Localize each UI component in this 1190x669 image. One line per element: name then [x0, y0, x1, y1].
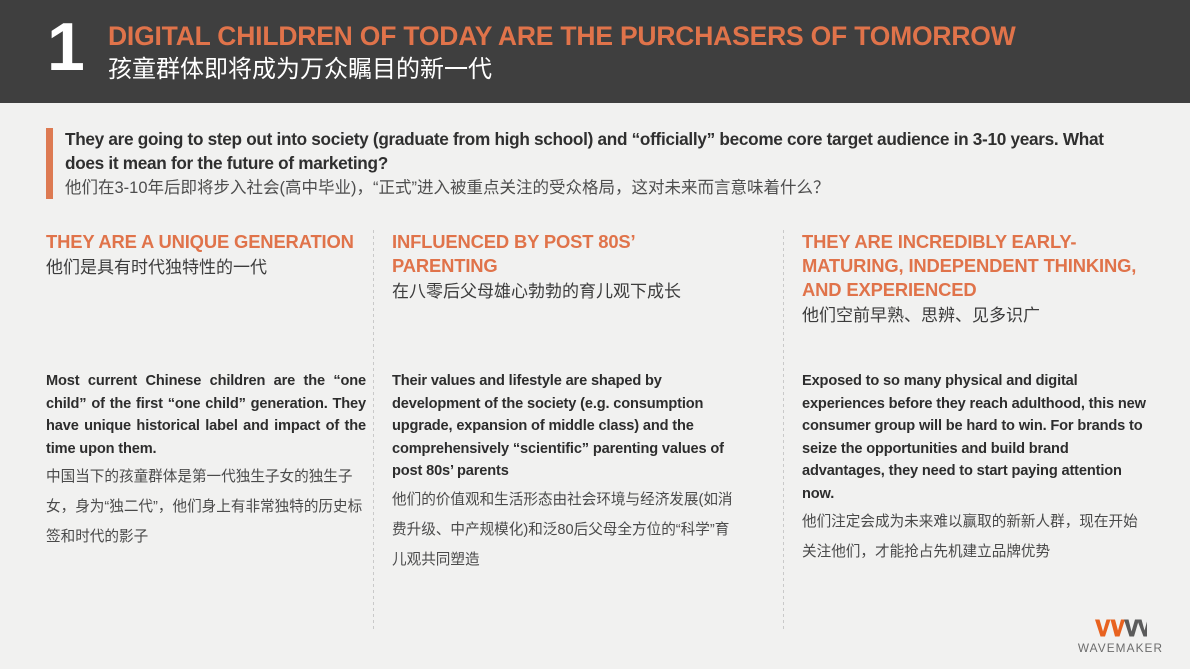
column-1-body-english: Most current Chinese children are the “o… — [46, 370, 366, 460]
column-3-body-english: Exposed to so many physical and digital … — [802, 370, 1147, 505]
column-1-heading-english: THEY ARE A UNIQUE GENERATION — [46, 230, 366, 254]
column-3-heading-chinese: 他们空前早熟、思辨、见多识广 — [802, 303, 1147, 329]
column-2-body: Their values and lifestyle are shaped by… — [392, 370, 742, 575]
header-title-english: DIGITAL CHILDREN OF TODAY ARE THE PURCHA… — [108, 20, 1138, 52]
column-divider-1 — [373, 230, 374, 630]
column-2-body-english: Their values and lifestyle are shaped by… — [392, 370, 742, 483]
intro-block: They are going to step out into society … — [46, 127, 1146, 201]
column-3-body: Exposed to so many physical and digital … — [802, 370, 1147, 567]
content-column-2: INFLUENCED BY POST 80S’ PARENTING 在八零后父母… — [392, 230, 742, 635]
column-2-heading-chinese: 在八零后父母雄心勃勃的育儿观下成长 — [392, 279, 742, 305]
wavemaker-logo: WAVEMAKER — [1073, 618, 1168, 655]
header-title-chinese: 孩童群体即将成为万众瞩目的新一代 — [108, 54, 1138, 85]
content-columns: THEY ARE A UNIQUE GENERATION 他们是具有时代独特性的… — [0, 230, 1190, 635]
column-2-body-chinese: 他们的价值观和生活形态由社会环境与经济发展(如消费升级、中产规模化)和泛80后父… — [392, 485, 742, 575]
slide-header: 1 DIGITAL CHILDREN OF TODAY ARE THE PURC… — [0, 0, 1190, 103]
intro-accent-bar — [46, 128, 53, 199]
intro-body: They are going to step out into society … — [65, 127, 1146, 201]
wavemaker-logo-text: WAVEMAKER — [1073, 641, 1168, 655]
slide-number: 1 — [47, 13, 84, 81]
column-2-heading-english: INFLUENCED BY POST 80S’ PARENTING — [392, 230, 742, 278]
column-1-heading-chinese: 他们是具有时代独特性的一代 — [46, 255, 366, 281]
intro-text-chinese: 他们在3-10年后即将步入社会(高中毕业)，“正式”进入被重点关注的受众格局，这… — [65, 176, 1146, 201]
wm-monogram-icon — [1095, 618, 1147, 638]
column-1-body-chinese: 中国当下的孩童群体是第一代独生子女的独生子女，身为“独二代”，他们身上有非常独特… — [46, 462, 366, 552]
content-column-3: THEY ARE INCREDIBLY EARLY-MATURING, INDE… — [802, 230, 1147, 635]
column-3-heading-english: THEY ARE INCREDIBLY EARLY-MATURING, INDE… — [802, 230, 1147, 302]
column-3-body-chinese: 他们注定会成为未来难以赢取的新新人群，现在开始关注他们，才能抢占先机建立品牌优势 — [802, 507, 1147, 567]
column-1-body: Most current Chinese children are the “o… — [46, 370, 366, 552]
intro-text-english: They are going to step out into society … — [65, 127, 1146, 175]
header-titles: DIGITAL CHILDREN OF TODAY ARE THE PURCHA… — [108, 20, 1138, 85]
content-column-1: THEY ARE A UNIQUE GENERATION 他们是具有时代独特性的… — [46, 230, 366, 635]
column-divider-2 — [783, 230, 784, 630]
